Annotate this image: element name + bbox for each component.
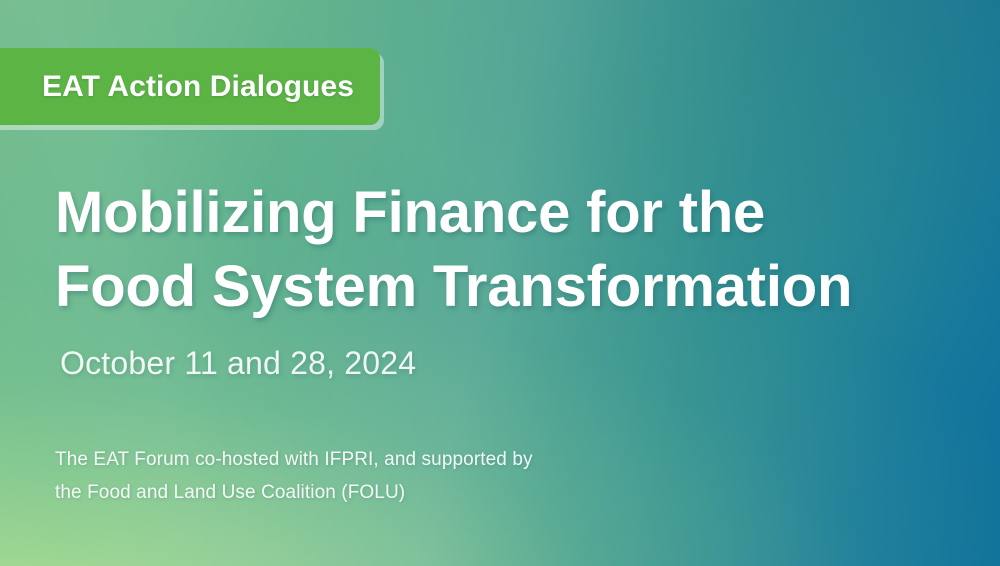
headline-line-1: Mobilizing Finance for the: [55, 176, 955, 250]
series-badge: EAT Action Dialogues: [0, 48, 380, 125]
caption-line-2: the Food and Land Use Coalition (FOLU): [55, 476, 835, 509]
series-badge-label: EAT Action Dialogues: [42, 70, 354, 104]
event-banner: EAT Action Dialogues Mobilizing Finance …: [0, 0, 1000, 566]
caption-line-1: The EAT Forum co-hosted with IFPRI, and …: [55, 443, 835, 476]
banner-headline: Mobilizing Finance for the Food System T…: [55, 176, 955, 324]
headline-line-2: Food System Transformation: [55, 250, 955, 324]
event-date: October 11 and 28, 2024: [60, 345, 416, 382]
banner-caption: The EAT Forum co-hosted with IFPRI, and …: [55, 443, 835, 509]
